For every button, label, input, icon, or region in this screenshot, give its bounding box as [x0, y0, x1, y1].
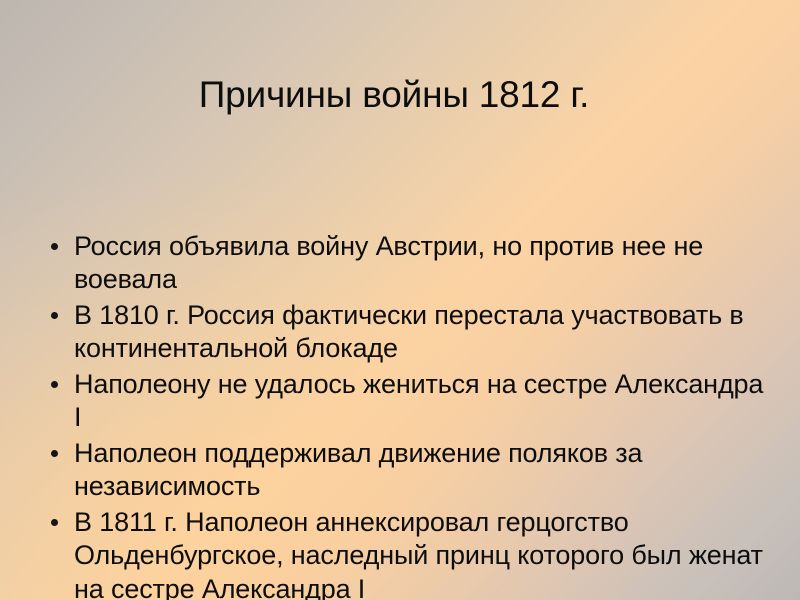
list-item: Наполеону не удалось жениться на сестре … [44, 368, 764, 435]
list-item-text: Наполеон поддерживал движение поляков за… [74, 437, 764, 504]
bullet-dot-icon [51, 519, 58, 526]
list-item-text: В 1811 г. Наполеон аннексировал герцогст… [74, 506, 764, 600]
list-item-text: Россия объявила войну Австрии, но против… [74, 230, 764, 297]
slide-title: Причины войны 1812 г. [0, 73, 800, 117]
slide-canvas: Причины войны 1812 г. Россия объявила во… [0, 0, 800, 600]
slide-bullet-list: Россия объявила войну Австрии, но против… [44, 230, 764, 600]
list-item: Россия объявила войну Австрии, но против… [44, 230, 764, 297]
bullet-dot-icon [51, 450, 58, 457]
list-item: В 1810 г. Россия фактически перестала уч… [44, 299, 764, 366]
list-item: Наполеон поддерживал движение поляков за… [44, 437, 764, 504]
bullet-dot-icon [51, 243, 58, 250]
bullet-dot-icon [51, 312, 58, 319]
list-item-text: В 1810 г. Россия фактически перестала уч… [74, 299, 764, 366]
bullet-dot-icon [51, 381, 58, 388]
list-item-text: Наполеону не удалось жениться на сестре … [74, 368, 764, 435]
list-item: В 1811 г. Наполеон аннексировал герцогст… [44, 506, 764, 600]
